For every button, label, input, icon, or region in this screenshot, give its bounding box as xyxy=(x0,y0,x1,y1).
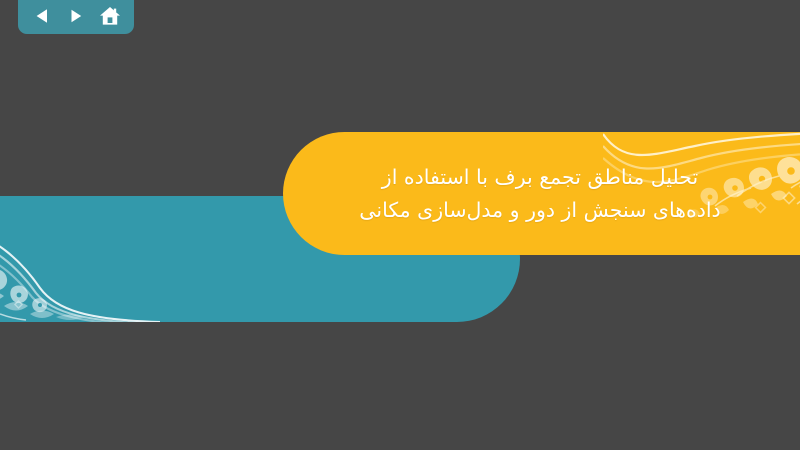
slide-title: تحلیل مناطق تجمع برف با استفاده از داده‌… xyxy=(300,138,780,250)
home-icon xyxy=(99,6,121,26)
triangle-left-icon xyxy=(33,7,51,25)
slide-title-line-1: تحلیل مناطق تجمع برف با استفاده از xyxy=(382,161,698,194)
triangle-right-icon xyxy=(67,7,85,25)
back-button[interactable] xyxy=(29,4,55,28)
navigation-bar xyxy=(18,0,134,34)
slide-title-line-2: داده‌های سنجش از دور و مدل‌سازی مکانی xyxy=(359,194,720,227)
slide-canvas: تحلیل مناطق تجمع برف با استفاده از داده‌… xyxy=(0,0,800,450)
forward-button[interactable] xyxy=(63,4,89,28)
arabesque-corner-ornament-teal xyxy=(0,196,160,322)
home-button[interactable] xyxy=(97,4,123,28)
